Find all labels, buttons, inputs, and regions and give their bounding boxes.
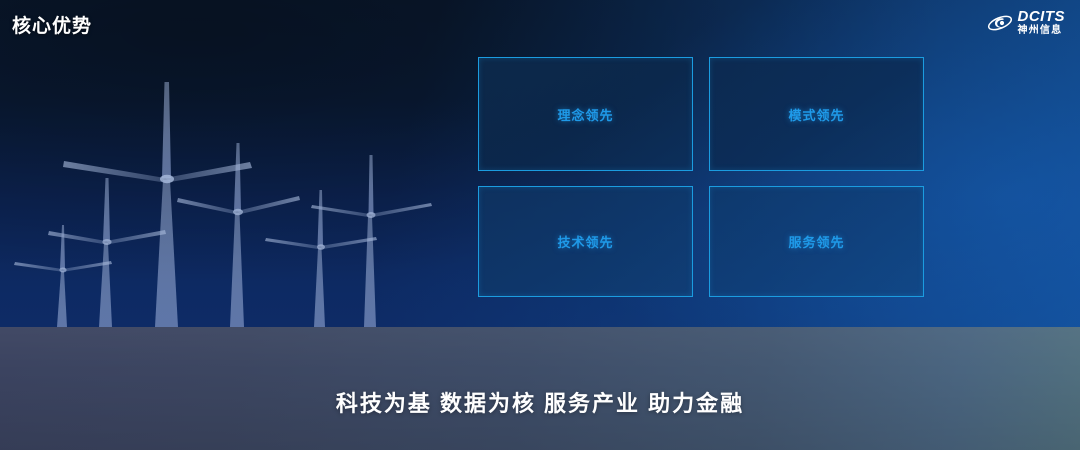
logo-en-text: DCITS [1018,9,1066,24]
logo-text-block: DCITS 神州信息 [1018,9,1066,36]
feature-card-model[interactable]: 模式领先 [709,57,924,171]
page-title: 核心优势 [12,11,92,38]
brand-logo: DCITS 神州信息 [987,9,1066,36]
feature-card-concept[interactable]: 理念领先 [478,57,693,171]
feature-card-technology[interactable]: 技术领先 [478,186,693,297]
feature-card-label: 技术领先 [557,232,613,251]
feature-card-label: 理念领先 [557,105,613,124]
slide-root: 核心优势 DCITS 神州信息 理念领先 模式领先 技术领先 服务领先 科技为基… [0,0,1080,450]
footer-tagline: 科技为基 数据为核 服务产业 助力金融 [0,386,1080,418]
galaxy-swirl-icon [987,11,1013,35]
feature-card-label: 模式领先 [788,105,844,124]
feature-card-grid: 理念领先 模式领先 技术领先 服务领先 [478,57,924,297]
feature-card-label: 服务领先 [788,232,844,251]
feature-card-service[interactable]: 服务领先 [709,186,924,297]
logo-cn-text: 神州信息 [1018,26,1063,36]
